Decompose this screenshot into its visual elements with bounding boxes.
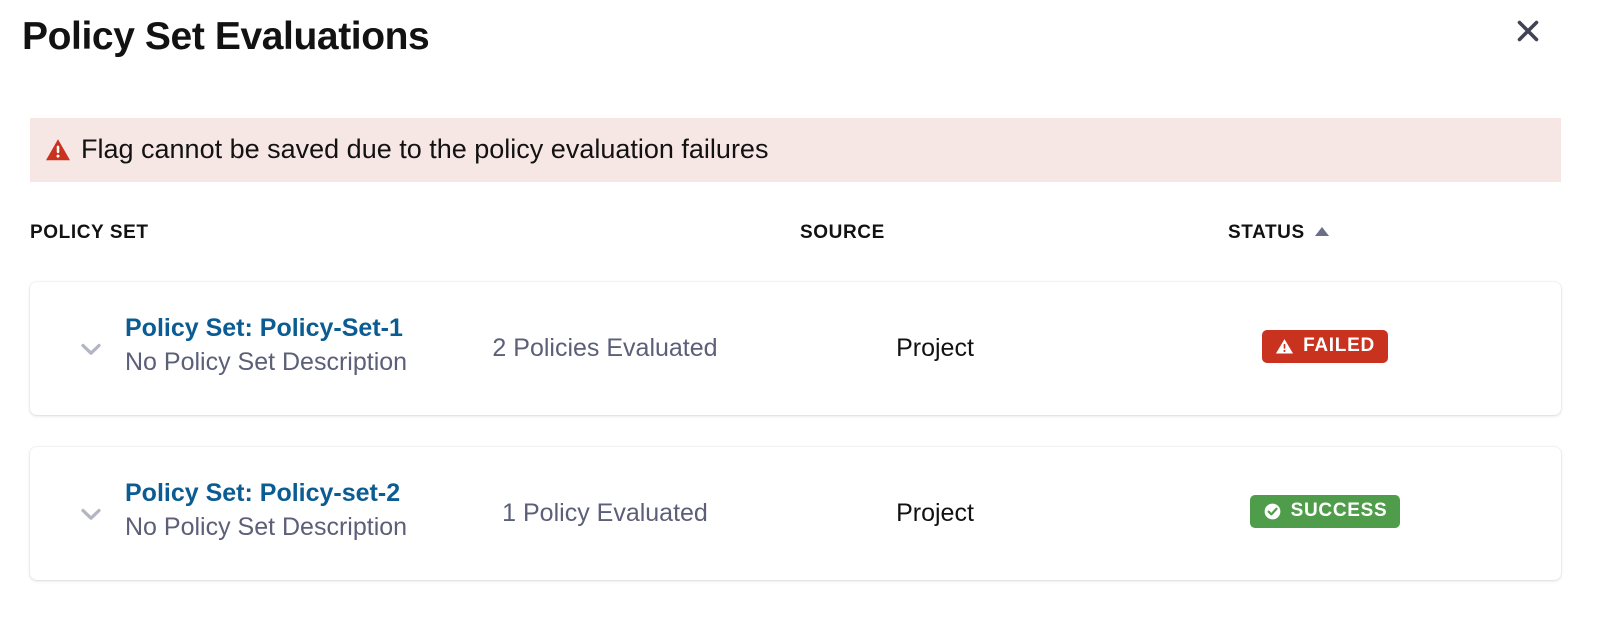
page-title: Policy Set Evaluations xyxy=(22,14,429,61)
status-badge: FAILED xyxy=(1262,330,1388,363)
modal-header: Policy Set Evaluations xyxy=(0,0,1600,92)
cell-policy-set: Policy Set: Policy-set-2 No Policy Set D… xyxy=(125,477,455,544)
table-header-row: POLICY SET SOURCE STATUS xyxy=(0,206,1600,258)
cell-status: FAILED xyxy=(1180,330,1470,363)
column-header-source: SOURCE xyxy=(800,222,885,244)
column-header-policy-set: POLICY SET xyxy=(30,222,149,244)
policy-set-link[interactable]: Policy Set: Policy-Set-1 xyxy=(125,312,455,346)
chevron-down-icon xyxy=(74,332,108,366)
check-circle-icon xyxy=(1263,502,1282,521)
policy-set-evaluations-modal: Policy Set Evaluations Flag cannot be sa… xyxy=(0,0,1600,623)
policy-set-description: No Policy Set Description xyxy=(125,511,455,544)
error-alert-message: Flag cannot be saved due to the policy e… xyxy=(81,135,768,165)
column-header-status-label: STATUS xyxy=(1228,222,1305,244)
cell-policy-set: Policy Set: Policy-Set-1 No Policy Set D… xyxy=(125,312,455,379)
expand-row-button[interactable] xyxy=(68,491,114,537)
status-badge: SUCCESS xyxy=(1250,495,1401,528)
cell-source: Project xyxy=(820,334,1050,363)
status-badge-label: SUCCESS xyxy=(1291,500,1388,522)
error-alert-banner: Flag cannot be saved due to the policy e… xyxy=(30,118,1561,182)
column-header-status[interactable]: STATUS xyxy=(1228,222,1329,244)
cell-source: Project xyxy=(820,499,1050,528)
policy-set-description: No Policy Set Description xyxy=(125,346,455,379)
policy-set-link[interactable]: Policy Set: Policy-set-2 xyxy=(125,477,455,511)
chevron-down-icon xyxy=(74,497,108,531)
close-button[interactable] xyxy=(1508,11,1548,51)
warning-triangle-icon xyxy=(45,137,71,163)
table-row[interactable]: Policy Set: Policy-set-2 No Policy Set D… xyxy=(30,447,1561,580)
cell-policies-evaluated: 2 Policies Evaluated xyxy=(455,334,755,363)
cell-policies-evaluated: 1 Policy Evaluated xyxy=(455,499,755,528)
cell-status: SUCCESS xyxy=(1180,495,1470,528)
sort-ascending-arrow-icon[interactable] xyxy=(1315,227,1329,236)
close-icon xyxy=(1514,17,1542,45)
table-row[interactable]: Policy Set: Policy-Set-1 No Policy Set D… xyxy=(30,282,1561,415)
warning-triangle-icon xyxy=(1275,337,1294,356)
expand-row-button[interactable] xyxy=(68,326,114,372)
status-badge-label: FAILED xyxy=(1303,335,1375,357)
